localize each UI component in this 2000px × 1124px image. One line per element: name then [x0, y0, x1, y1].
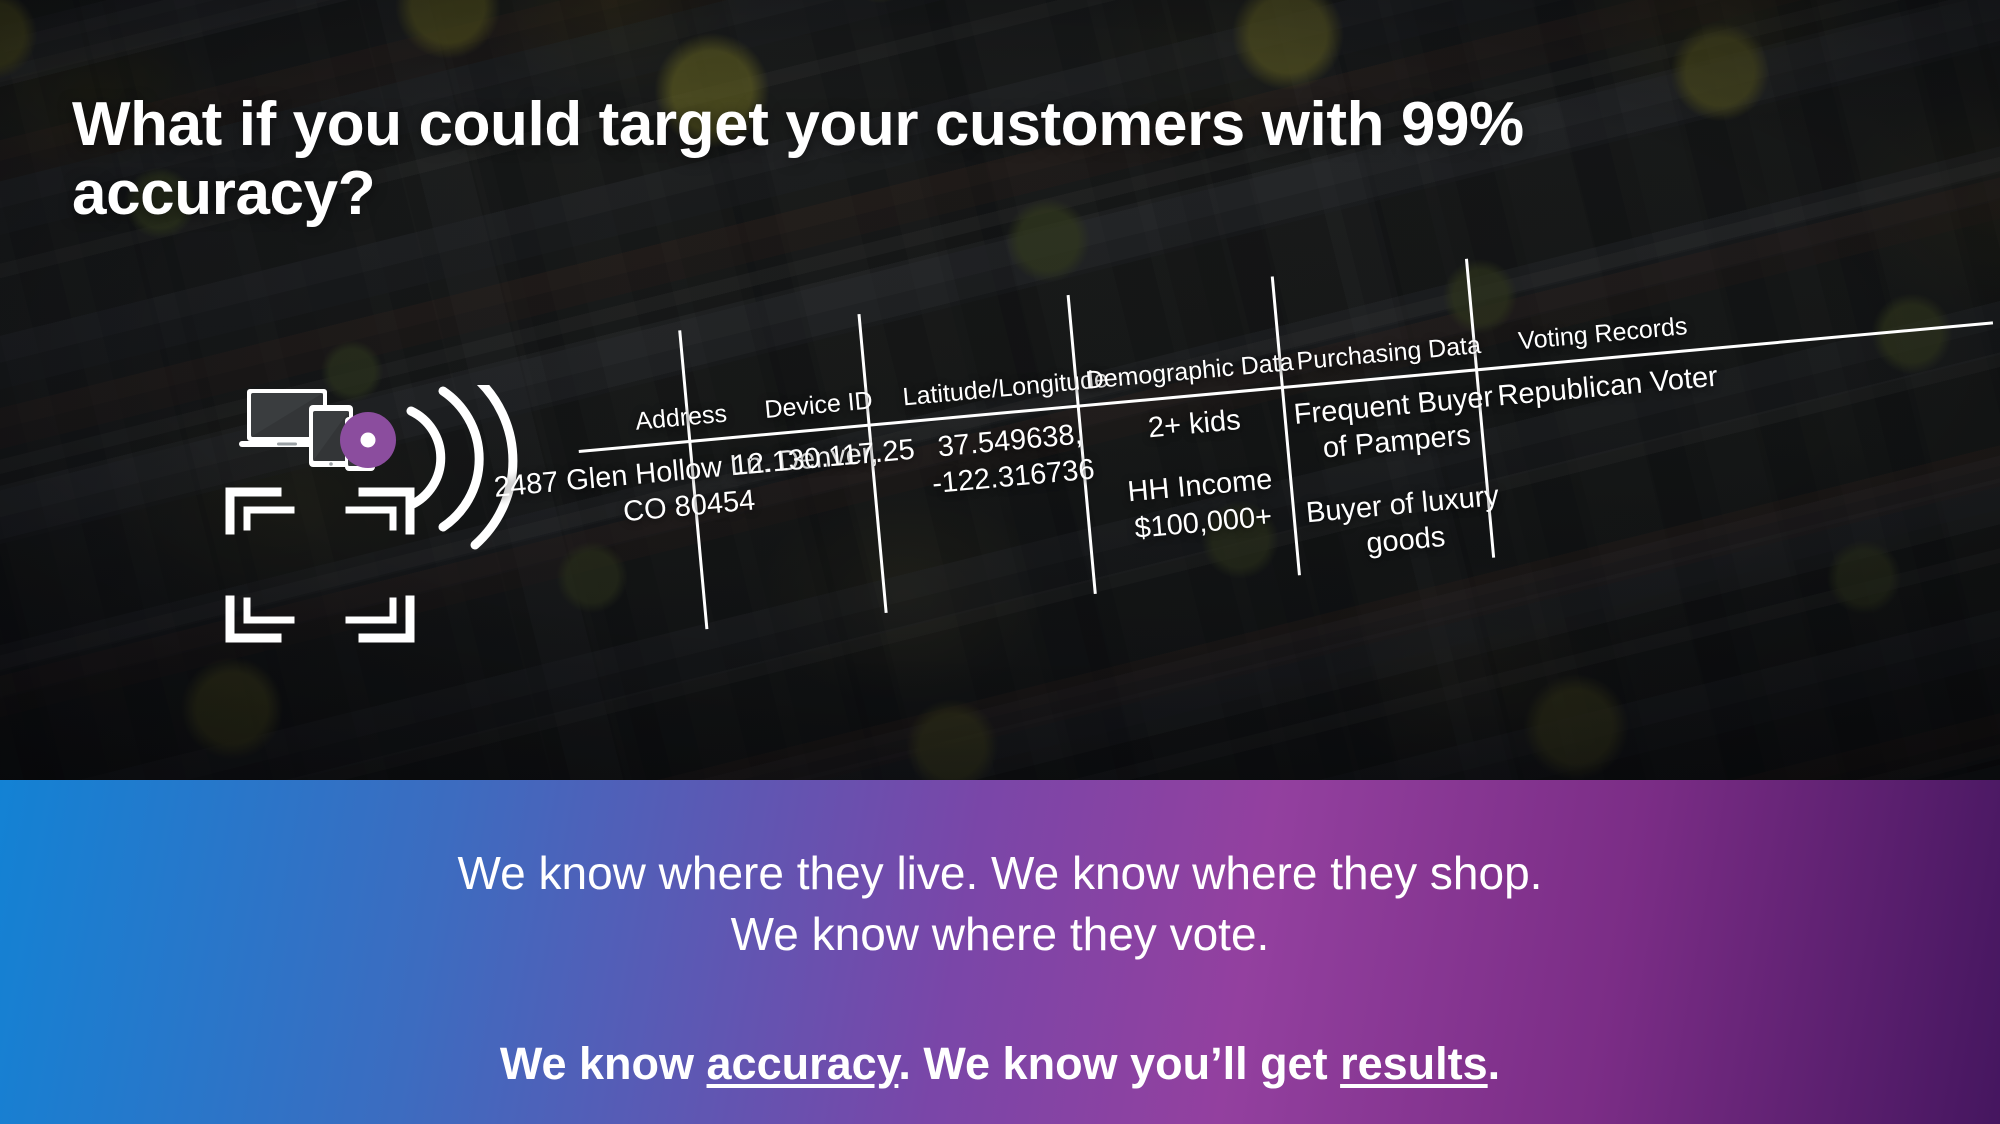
segment-label: Voting Records	[1479, 308, 1726, 360]
segment-values: 2+ kids HH Income $100,000+	[1086, 396, 1312, 550]
segment-values: Republican Voter	[1484, 358, 1731, 416]
bottom-gradient-banner: We know where they live. We know where t…	[0, 780, 2000, 1124]
page-title: What if you could target your customers …	[72, 90, 1692, 229]
segment-label: Demographic Data	[1081, 347, 1298, 396]
targeting-brackets-icon	[230, 492, 410, 638]
ribbon-segment-purchasing: Purchasing Data Frequent Buyer of Pamper…	[1275, 217, 1506, 534]
kicker-part-3: .	[1488, 1038, 1501, 1089]
targeting-brackets-inner-icon	[247, 510, 393, 620]
banner-lead-line-1: We know where they live. We know where t…	[0, 843, 2000, 904]
segment-value: 2+ kids	[1086, 396, 1303, 452]
kicker-emphasis-results: results	[1340, 1038, 1488, 1089]
segment-value: Republican Voter	[1484, 358, 1731, 416]
slide-canvas: What if you could target your customers …	[0, 0, 2000, 1124]
kicker-part-2: . We know you’ll get	[898, 1038, 1340, 1089]
segment-values: Frequent Buyer of Pampers Buyer of luxur…	[1290, 379, 1510, 568]
ribbon-segment-voting: Voting Records Republican Voter	[1469, 196, 1740, 517]
banner-lead-text: We know where they live. We know where t…	[0, 843, 2000, 964]
purple-beacon-dot-icon	[340, 412, 396, 468]
kicker-emphasis-accuracy: accuracy	[707, 1038, 899, 1089]
kicker-part-1: We know	[500, 1038, 707, 1089]
ribbon-segment-demographic: Demographic Data 2+ kids HH Income $100,…	[1071, 235, 1312, 553]
segment-value: Frequent Buyer of Pampers	[1290, 379, 1501, 470]
segment-value: HH Income $100,000+	[1091, 458, 1312, 550]
banner-lead-line-2: We know where they vote.	[0, 904, 2000, 965]
banner-kicker-text: We know accuracy. We know you’ll get res…	[0, 1038, 2000, 1090]
segment-label: Purchasing Data	[1285, 329, 1492, 377]
